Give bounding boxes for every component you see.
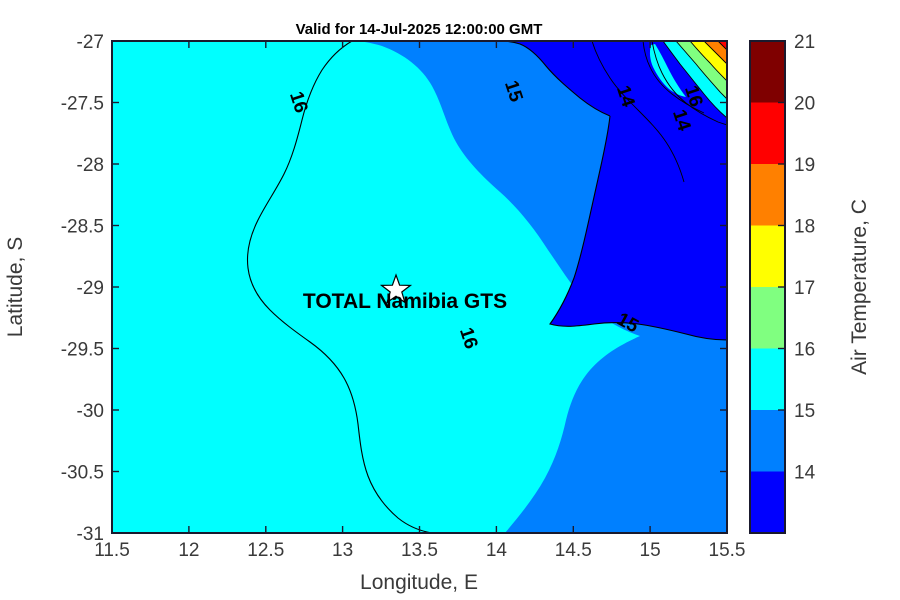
y-tick-label: -29.5	[61, 340, 104, 361]
y-tick-label: -27.5	[61, 94, 104, 115]
y-tick-label: -28.5	[61, 217, 104, 238]
colorbar-band-15-16	[750, 349, 785, 411]
y-axis-title: Latitude, S	[4, 237, 27, 337]
colorbar-tick-label: 19	[794, 155, 815, 176]
x-tick-label: 15	[640, 540, 661, 561]
y-tick-label: -27	[77, 32, 104, 53]
y-tick-label: -30	[77, 401, 104, 422]
colorbar-tick-label: 17	[794, 278, 815, 299]
x-tick-label: 13.5	[401, 540, 438, 561]
colorbar-tick-label: 21	[794, 32, 815, 53]
y-tick-label: -29	[77, 278, 104, 299]
site-label: TOTAL Namibia GTS	[303, 290, 507, 313]
figure-root: 16 15 14 16 14 15 16 TOTAL Namibia GTS	[0, 0, 900, 600]
colorbar-tick-label: 16	[794, 340, 815, 361]
contour-figure: 16 15 14 16 14 15 16 TOTAL Namibia GTS	[0, 0, 900, 600]
x-axis-title: Longitude, E	[360, 571, 478, 594]
colorbar-band-20-21	[750, 41, 785, 103]
x-tick-labels: 11.5 12 12.5 13 13.5 14 14.5 15 15.5	[94, 540, 745, 561]
y-tick-label: -30.5	[61, 463, 104, 484]
colorbar-band-13-14	[750, 472, 785, 534]
colorbar-band-17-18	[750, 226, 785, 288]
contour-plot-area	[112, 41, 727, 533]
colorbar-band-14-15	[750, 410, 785, 472]
x-tick-label: 14	[486, 540, 508, 561]
colorbar-band-16-17	[750, 287, 785, 349]
y-tick-label: -28	[77, 155, 104, 176]
colorbar-band-18-19	[750, 164, 785, 226]
x-tick-label: 14.5	[555, 540, 592, 561]
x-tick-label: 12.5	[247, 540, 284, 561]
x-tick-label: 15.5	[709, 540, 746, 561]
colorbar-title: Air Temperature, C	[848, 199, 871, 375]
colorbar-tick-label: 18	[794, 217, 815, 238]
x-tick-label: 13	[332, 540, 353, 561]
colorbar-tick-label: 15	[794, 401, 815, 422]
colorbar-band-19-20	[750, 103, 785, 165]
y-tick-label: -31	[77, 524, 104, 545]
x-tick-label: 12	[178, 540, 199, 561]
colorbar-tick-label: 20	[794, 94, 815, 115]
colorbar-tick-label: 14	[794, 463, 816, 484]
plot-title: Valid for 14-Jul-2025 12:00:00 GMT	[296, 21, 543, 38]
